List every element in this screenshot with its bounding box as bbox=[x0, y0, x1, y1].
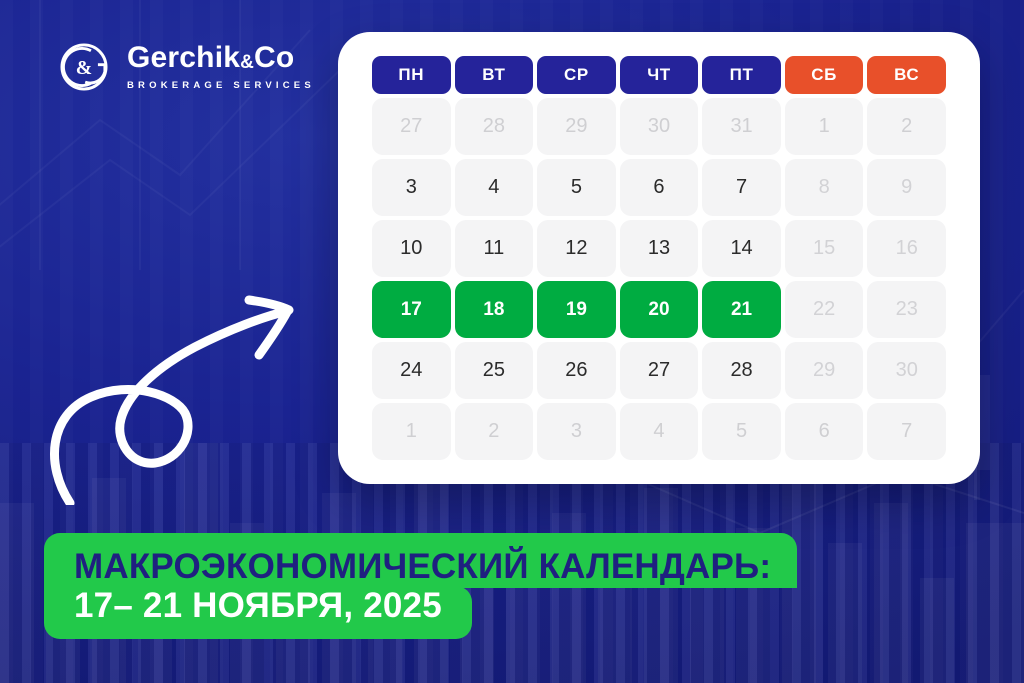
calendar-day-cell-selected[interactable]: 20 bbox=[620, 281, 699, 338]
calendar-day-cell[interactable]: 6 bbox=[620, 159, 699, 216]
calendar-day-cell[interactable]: 11 bbox=[455, 220, 534, 277]
brand-name-part2: Co bbox=[254, 41, 294, 74]
calendar-day-cell[interactable]: 3 bbox=[372, 159, 451, 216]
calendar-day-cell[interactable]: 25 bbox=[455, 342, 534, 399]
calendar-day-cell[interactable]: 2 bbox=[867, 98, 946, 155]
headline-dates-band: 17– 21 НОЯБРЯ, 2025 bbox=[44, 586, 472, 639]
calendar-day-cell[interactable]: 23 bbox=[867, 281, 946, 338]
calendar-weekday-header-сб: СБ bbox=[785, 56, 864, 94]
calendar-day-cell[interactable]: 30 bbox=[620, 98, 699, 155]
calendar-day-cell[interactable]: 27 bbox=[620, 342, 699, 399]
calendar-day-cell[interactable]: 4 bbox=[455, 159, 534, 216]
calendar-day-cell[interactable]: 7 bbox=[867, 403, 946, 460]
hand-drawn-arrow-icon bbox=[35, 255, 335, 505]
calendar-day-cell-selected[interactable]: 17 bbox=[372, 281, 451, 338]
page-title: МАКРОЭКОНОМИЧЕСКИЙ КАЛЕНДАРЬ: bbox=[74, 549, 771, 584]
brand-ampersand: & bbox=[240, 52, 254, 73]
calendar-weekday-header-вс: ВС bbox=[867, 56, 946, 94]
svg-text:&: & bbox=[76, 57, 92, 79]
calendar-day-cell[interactable]: 28 bbox=[455, 98, 534, 155]
calendar-day-cell[interactable]: 3 bbox=[537, 403, 616, 460]
poster-canvas: & Gerchik&Co BROKERAGE SERVICES ПНВТСРЧТ… bbox=[0, 0, 1024, 683]
calendar-day-cell[interactable]: 13 bbox=[620, 220, 699, 277]
calendar-day-cell[interactable]: 12 bbox=[537, 220, 616, 277]
calendar-day-cell[interactable]: 2 bbox=[455, 403, 534, 460]
calendar-grid: ПНВТСРЧТПТСБВС27282930311234567891011121… bbox=[372, 56, 946, 460]
calendar-day-cell[interactable]: 1 bbox=[372, 403, 451, 460]
calendar-day-cell[interactable]: 22 bbox=[785, 281, 864, 338]
brand-name-part1: Gerchik bbox=[127, 41, 240, 74]
calendar-weekday-header-ср: СР bbox=[537, 56, 616, 94]
calendar-day-cell-selected[interactable]: 18 bbox=[455, 281, 534, 338]
calendar-day-cell[interactable]: 5 bbox=[537, 159, 616, 216]
brand-logo: & Gerchik&Co BROKERAGE SERVICES bbox=[55, 38, 315, 96]
calendar-weekday-header-чт: ЧТ bbox=[620, 56, 699, 94]
brand-tagline: BROKERAGE SERVICES bbox=[127, 80, 315, 91]
calendar-day-cell[interactable]: 30 bbox=[867, 342, 946, 399]
calendar-day-cell[interactable]: 26 bbox=[537, 342, 616, 399]
calendar-day-cell[interactable]: 9 bbox=[867, 159, 946, 216]
calendar-day-cell[interactable]: 4 bbox=[620, 403, 699, 460]
headline-banner: МАКРОЭКОНОМИЧЕСКИЙ КАЛЕНДАРЬ: 17– 21 НОЯ… bbox=[44, 533, 1024, 639]
calendar-weekday-header-пн: ПН bbox=[372, 56, 451, 94]
calendar-day-cell[interactable]: 8 bbox=[785, 159, 864, 216]
brand-name: Gerchik&Co bbox=[127, 43, 315, 73]
calendar-day-cell[interactable]: 10 bbox=[372, 220, 451, 277]
calendar-day-cell[interactable]: 16 bbox=[867, 220, 946, 277]
calendar-day-cell[interactable]: 1 bbox=[785, 98, 864, 155]
headline-title-band: МАКРОЭКОНОМИЧЕСКИЙ КАЛЕНДАРЬ: bbox=[44, 533, 797, 588]
calendar-day-cell[interactable]: 6 bbox=[785, 403, 864, 460]
calendar-day-cell[interactable]: 28 bbox=[702, 342, 781, 399]
calendar-day-cell[interactable]: 15 bbox=[785, 220, 864, 277]
calendar-day-cell[interactable]: 31 bbox=[702, 98, 781, 155]
calendar-day-cell[interactable]: 27 bbox=[372, 98, 451, 155]
calendar-day-cell[interactable]: 29 bbox=[537, 98, 616, 155]
calendar-weekday-header-вт: ВТ bbox=[455, 56, 534, 94]
cg-monogram-icon: & bbox=[55, 38, 113, 96]
calendar-weekday-header-пт: ПТ bbox=[702, 56, 781, 94]
calendar-day-cell[interactable]: 7 bbox=[702, 159, 781, 216]
calendar-day-cell[interactable]: 24 bbox=[372, 342, 451, 399]
calendar-day-cell-selected[interactable]: 21 bbox=[702, 281, 781, 338]
calendar-day-cell[interactable]: 29 bbox=[785, 342, 864, 399]
calendar-day-cell-selected[interactable]: 19 bbox=[537, 281, 616, 338]
date-range: 17– 21 НОЯБРЯ, 2025 bbox=[74, 588, 442, 623]
calendar-day-cell[interactable]: 5 bbox=[702, 403, 781, 460]
calendar-day-cell[interactable]: 14 bbox=[702, 220, 781, 277]
